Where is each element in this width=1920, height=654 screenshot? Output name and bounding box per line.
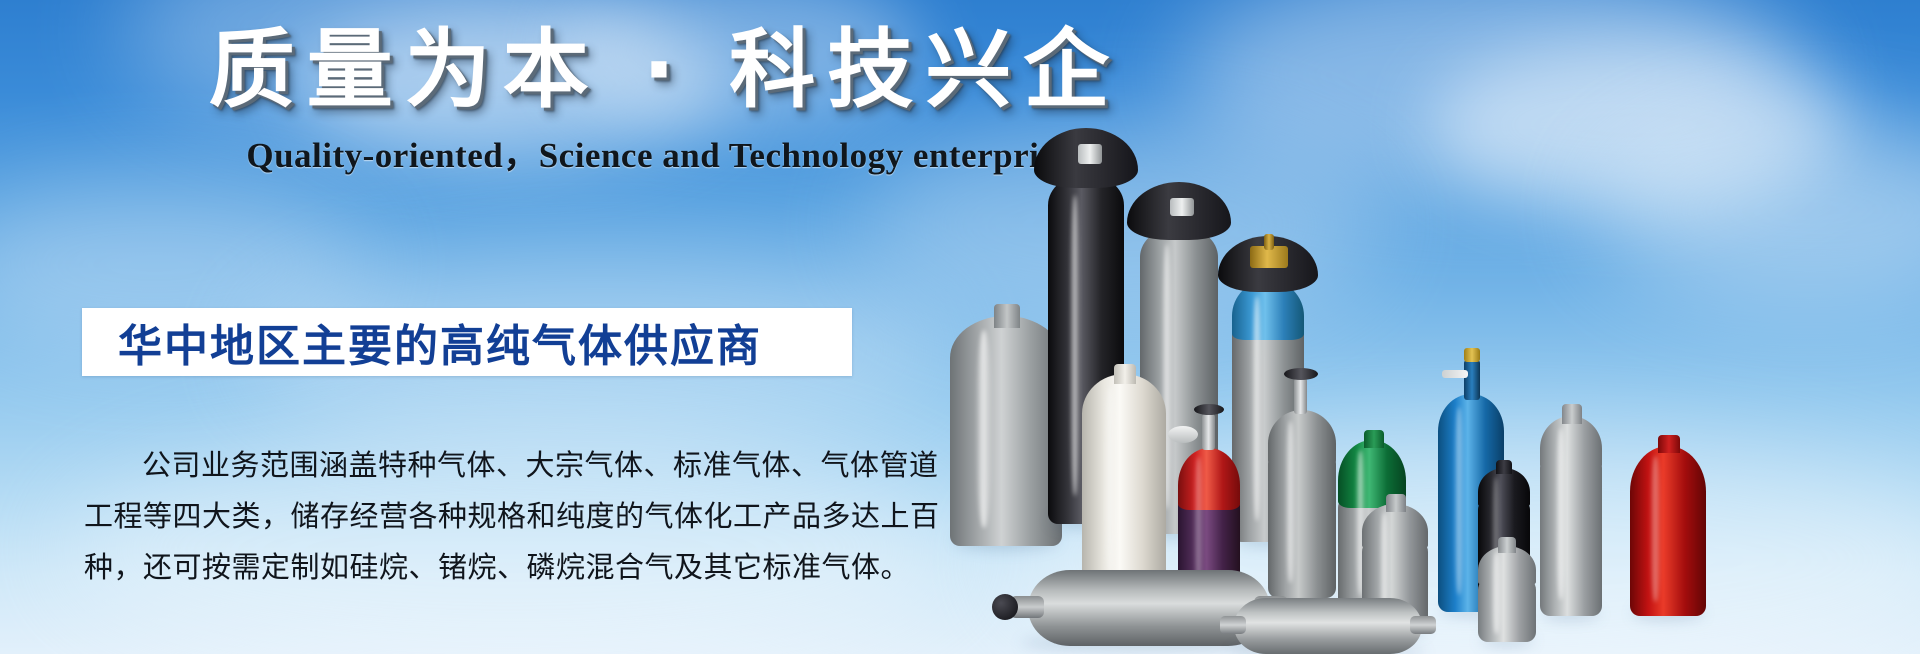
intro-line: 工程等四大类，储存经营各种规格和纯度的气体化工产品多达上百	[84, 491, 874, 542]
cylinder-aluminium-tall	[1540, 416, 1602, 616]
valve-cap-icon	[1464, 348, 1480, 362]
intro-line: 公司业务范围涵盖特种气体、大宗气体、标准气体、气体管道	[84, 440, 874, 491]
cylinder-red	[1630, 446, 1706, 616]
cylinder-aluminium-small	[1478, 546, 1536, 642]
valve-handwheel-icon	[992, 594, 1018, 620]
cylinder-white	[1082, 374, 1166, 594]
promo-banner: 质量为本 · 科技兴企 Quality-oriented，Science and…	[0, 0, 1920, 654]
tagline-text: 华中地区主要的高纯气体供应商	[82, 310, 762, 374]
valve-handwheel-icon	[1284, 368, 1318, 380]
tank-horizontal-small	[1220, 598, 1436, 654]
tagline-bar: 华中地区主要的高纯气体供应商	[82, 308, 852, 376]
intro-paragraph: 公司业务范围涵盖特种气体、大宗气体、标准气体、气体管道 工程等四大类，储存经营各…	[84, 440, 874, 593]
cylinder-grey-short	[950, 316, 1062, 546]
gas-cylinders-image	[930, 0, 1920, 654]
valve-handwheel-icon	[1194, 404, 1224, 415]
intro-line: 种，还可按需定制如硅烷、锗烷、磷烷混合气及其它标准气体。	[84, 542, 874, 593]
